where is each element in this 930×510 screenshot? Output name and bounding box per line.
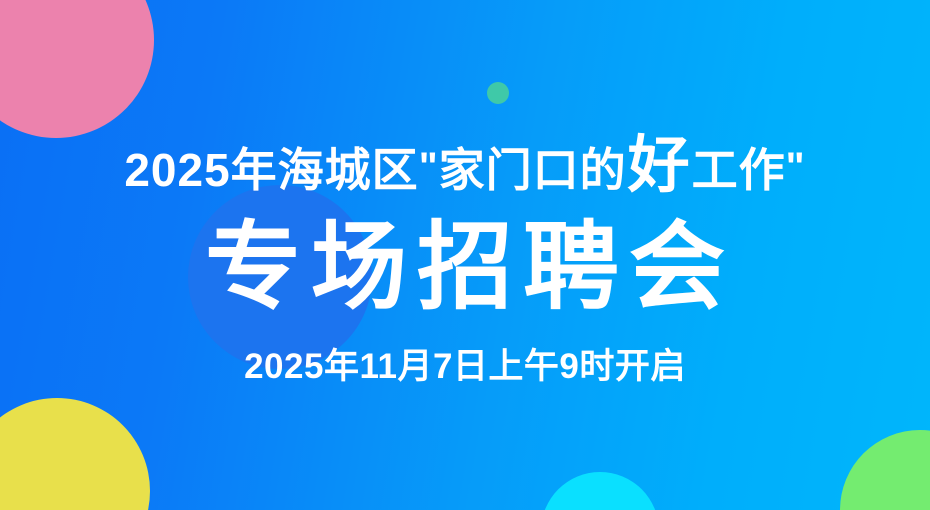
poster-date-line: 2025年11月7日上午9时开启 <box>244 349 686 384</box>
poster-subtitle-line: 2025年海城区"家门口的好工作" <box>124 138 805 194</box>
subtitle-prefix: 2025年海城区 <box>124 147 418 193</box>
poster-headline: 专场招聘会 <box>205 218 735 319</box>
subtitle-suffix: 工作 <box>692 147 786 193</box>
recruitment-poster: 2025年海城区"家门口的好工作" 专场招聘会 2025年11月7日上午9时开启 <box>0 0 930 510</box>
subtitle-quote-open: " <box>419 147 439 187</box>
subtitle-mid: 家门口的 <box>439 147 627 193</box>
poster-text-block: 2025年海城区"家门口的好工作" 专场招聘会 2025年11月7日上午9时开启 <box>0 0 930 510</box>
subtitle-quote-close: " <box>786 147 806 187</box>
subtitle-emphasis: 好 <box>627 138 692 194</box>
